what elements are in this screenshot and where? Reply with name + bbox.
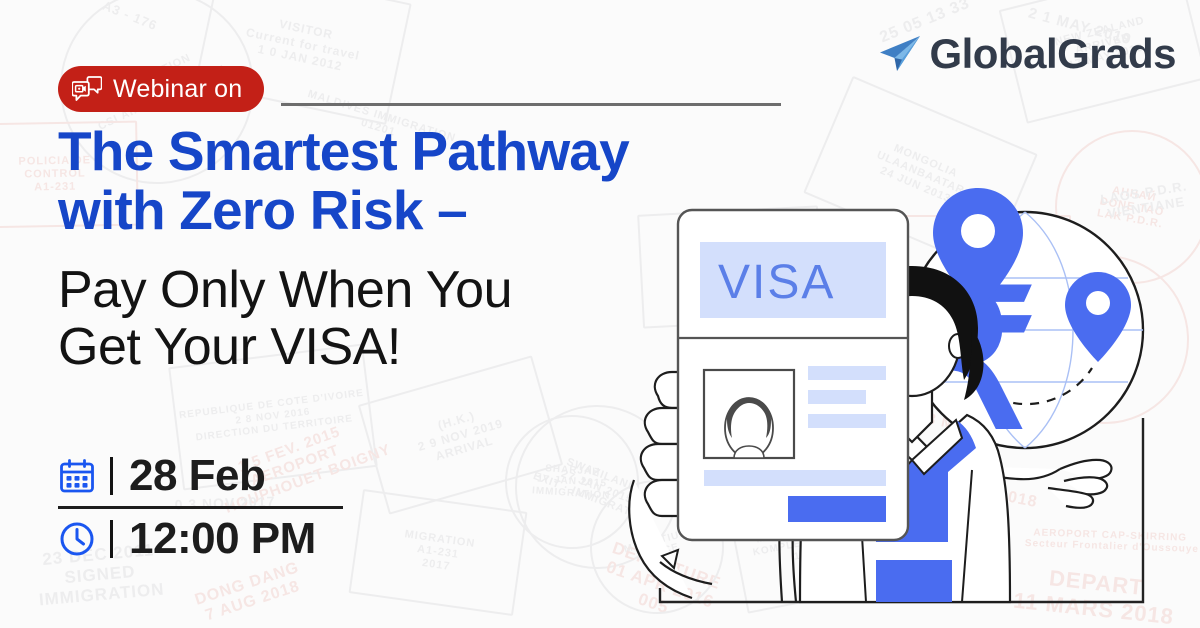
subheadline-line-2: Get Your VISA! xyxy=(58,319,678,376)
event-date-row: 28 Feb xyxy=(58,446,348,506)
date-separator xyxy=(110,457,113,495)
header-divider xyxy=(281,103,781,106)
webinar-badge: Webinar on xyxy=(58,66,264,112)
visa-illustration: ₹ xyxy=(600,170,1200,628)
globalgrads-logo: GlobalGrads xyxy=(877,33,1176,75)
webinar-poster: IMMIGRATION2 0 OCT 2016CSI AIRPORT, MUMB… xyxy=(0,0,1200,628)
time-separator xyxy=(110,520,113,558)
event-date: 28 Feb xyxy=(129,454,265,498)
event-time: 12:00 PM xyxy=(129,517,316,561)
background-stamp: MIGRATIONA1-2312017 xyxy=(349,489,528,616)
visa-card-label: VISA xyxy=(718,256,835,309)
paper-plane-icon xyxy=(877,33,923,75)
logo-wordmark: GlobalGrads xyxy=(929,33,1176,75)
clock-icon xyxy=(58,520,96,558)
subheadline-line-1: Pay Only When You xyxy=(58,262,678,319)
video-chat-icon xyxy=(72,76,102,102)
visa-card: VISA xyxy=(678,210,908,540)
webinar-badge-label: Webinar on xyxy=(113,77,242,102)
subheadline: Pay Only When You Get Your VISA! xyxy=(58,262,678,376)
calendar-icon xyxy=(58,457,96,495)
headline: The Smartest Pathway with Zero Risk – xyxy=(58,122,678,240)
background-stamp: A3 - 176 xyxy=(76,0,184,43)
headline-line-1: The Smartest Pathway xyxy=(58,122,678,181)
event-time-row: 12:00 PM xyxy=(58,509,348,569)
background-stamp: (H.K.)2 9 NOV 2019ARRIVAL xyxy=(358,355,563,514)
event-details: 28 Feb 12:00 PM xyxy=(58,446,348,569)
headline-line-2: with Zero Risk – xyxy=(58,181,678,240)
